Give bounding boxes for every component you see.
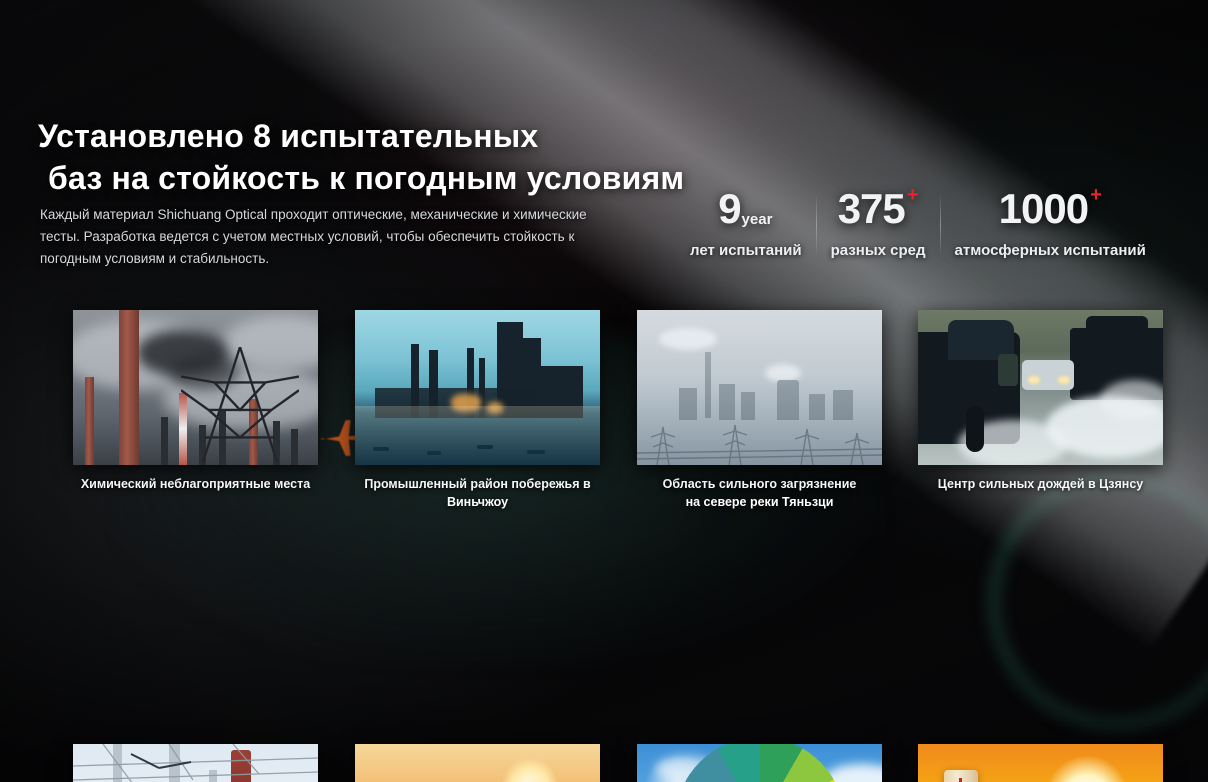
stats-strip: 9 year лет испытаний 375 + разных сред 1… [676,188,1196,260]
stat-plus: + [907,185,919,205]
gallery-grid: Химический неблагоприятные места [0,300,1208,736]
gallery-row-2: Криогенная зона в северо-восточной прови… [0,518,1208,736]
card-thumbnail-coastal-refinery[interactable] [355,310,600,465]
stat-item-environments: 375 + разных сред [817,188,940,262]
slide-root: Установлено 8 испытательных баз на стойк… [0,0,1208,782]
card-thumbnail-industrial-smokestacks[interactable] [73,310,318,465]
stat-value-group: 9 year [718,188,773,230]
gallery-card-7[interactable]: Высокая температура в Малазий [637,744,882,782]
card-thumbnail-heat-thermometer[interactable] [918,744,1163,782]
stat-item-years: 9 year лет испытаний [676,188,816,262]
card-thumbnail-snow-substation[interactable] [73,744,318,782]
gallery-row-1: Химический неблагоприятные места [0,300,1208,518]
card-caption: Промышленный район побережья в Виньчжоу [355,475,600,511]
card-thumbnail-smoggy-skyline[interactable] [637,310,882,465]
card-thumbnail-rainbow-umbrella[interactable] [637,744,882,782]
stat-item-tests: 1000 + атмосферных испытаний [941,188,1160,262]
stat-value: 375 [838,188,905,230]
page-title-line1: Установлено 8 испытательных [38,118,538,154]
gallery-card-1[interactable]: Химический неблагоприятные места [73,310,318,493]
gallery-card-6[interactable]: Сильная ультрафиолетовая зона в Тибете [355,744,600,782]
card-thumbnail-flooded-road[interactable] [918,310,1163,465]
card-caption: Центр сильных дождей в Цзянсу [918,475,1163,493]
stat-caption: лет испытаний [690,240,802,262]
card-caption: Область сильного загрязнение на севере р… [637,475,882,511]
stat-plus: + [1090,185,1102,205]
gallery-card-8[interactable]: Высокие температуры в Шаньчжене и в Тайв… [918,744,1163,782]
stat-unit: year [742,212,773,230]
gallery-card-2[interactable]: Промышленный район побережья в Виньчжоу [355,310,600,511]
gallery-card-3[interactable]: Область сильного загрязнение на севере р… [637,310,882,511]
gallery-card-5[interactable]: Криогенная зона в северо-восточной прови… [73,744,318,782]
gallery-card-4[interactable]: Центр сильных дождей в Цзянсу [918,310,1163,493]
stat-value: 9 [718,188,740,230]
stat-value: 1000 [999,188,1088,230]
stat-caption: атмосферных испытаний [955,240,1146,262]
card-caption: Химический неблагоприятные места [73,475,318,493]
stat-caption: разных сред [831,240,926,262]
stat-value-group: 1000 + [999,188,1102,230]
page-title: Установлено 8 испытательных баз на стойк… [38,116,738,199]
card-thumbnail-mountain-sunrise[interactable] [355,744,600,782]
intro-paragraph: Каждый материал Shichuang Optical проход… [40,204,600,271]
page-title-line2: баз на стойкость к погодным условиям [38,158,738,200]
stat-value-group: 375 + [838,188,919,230]
